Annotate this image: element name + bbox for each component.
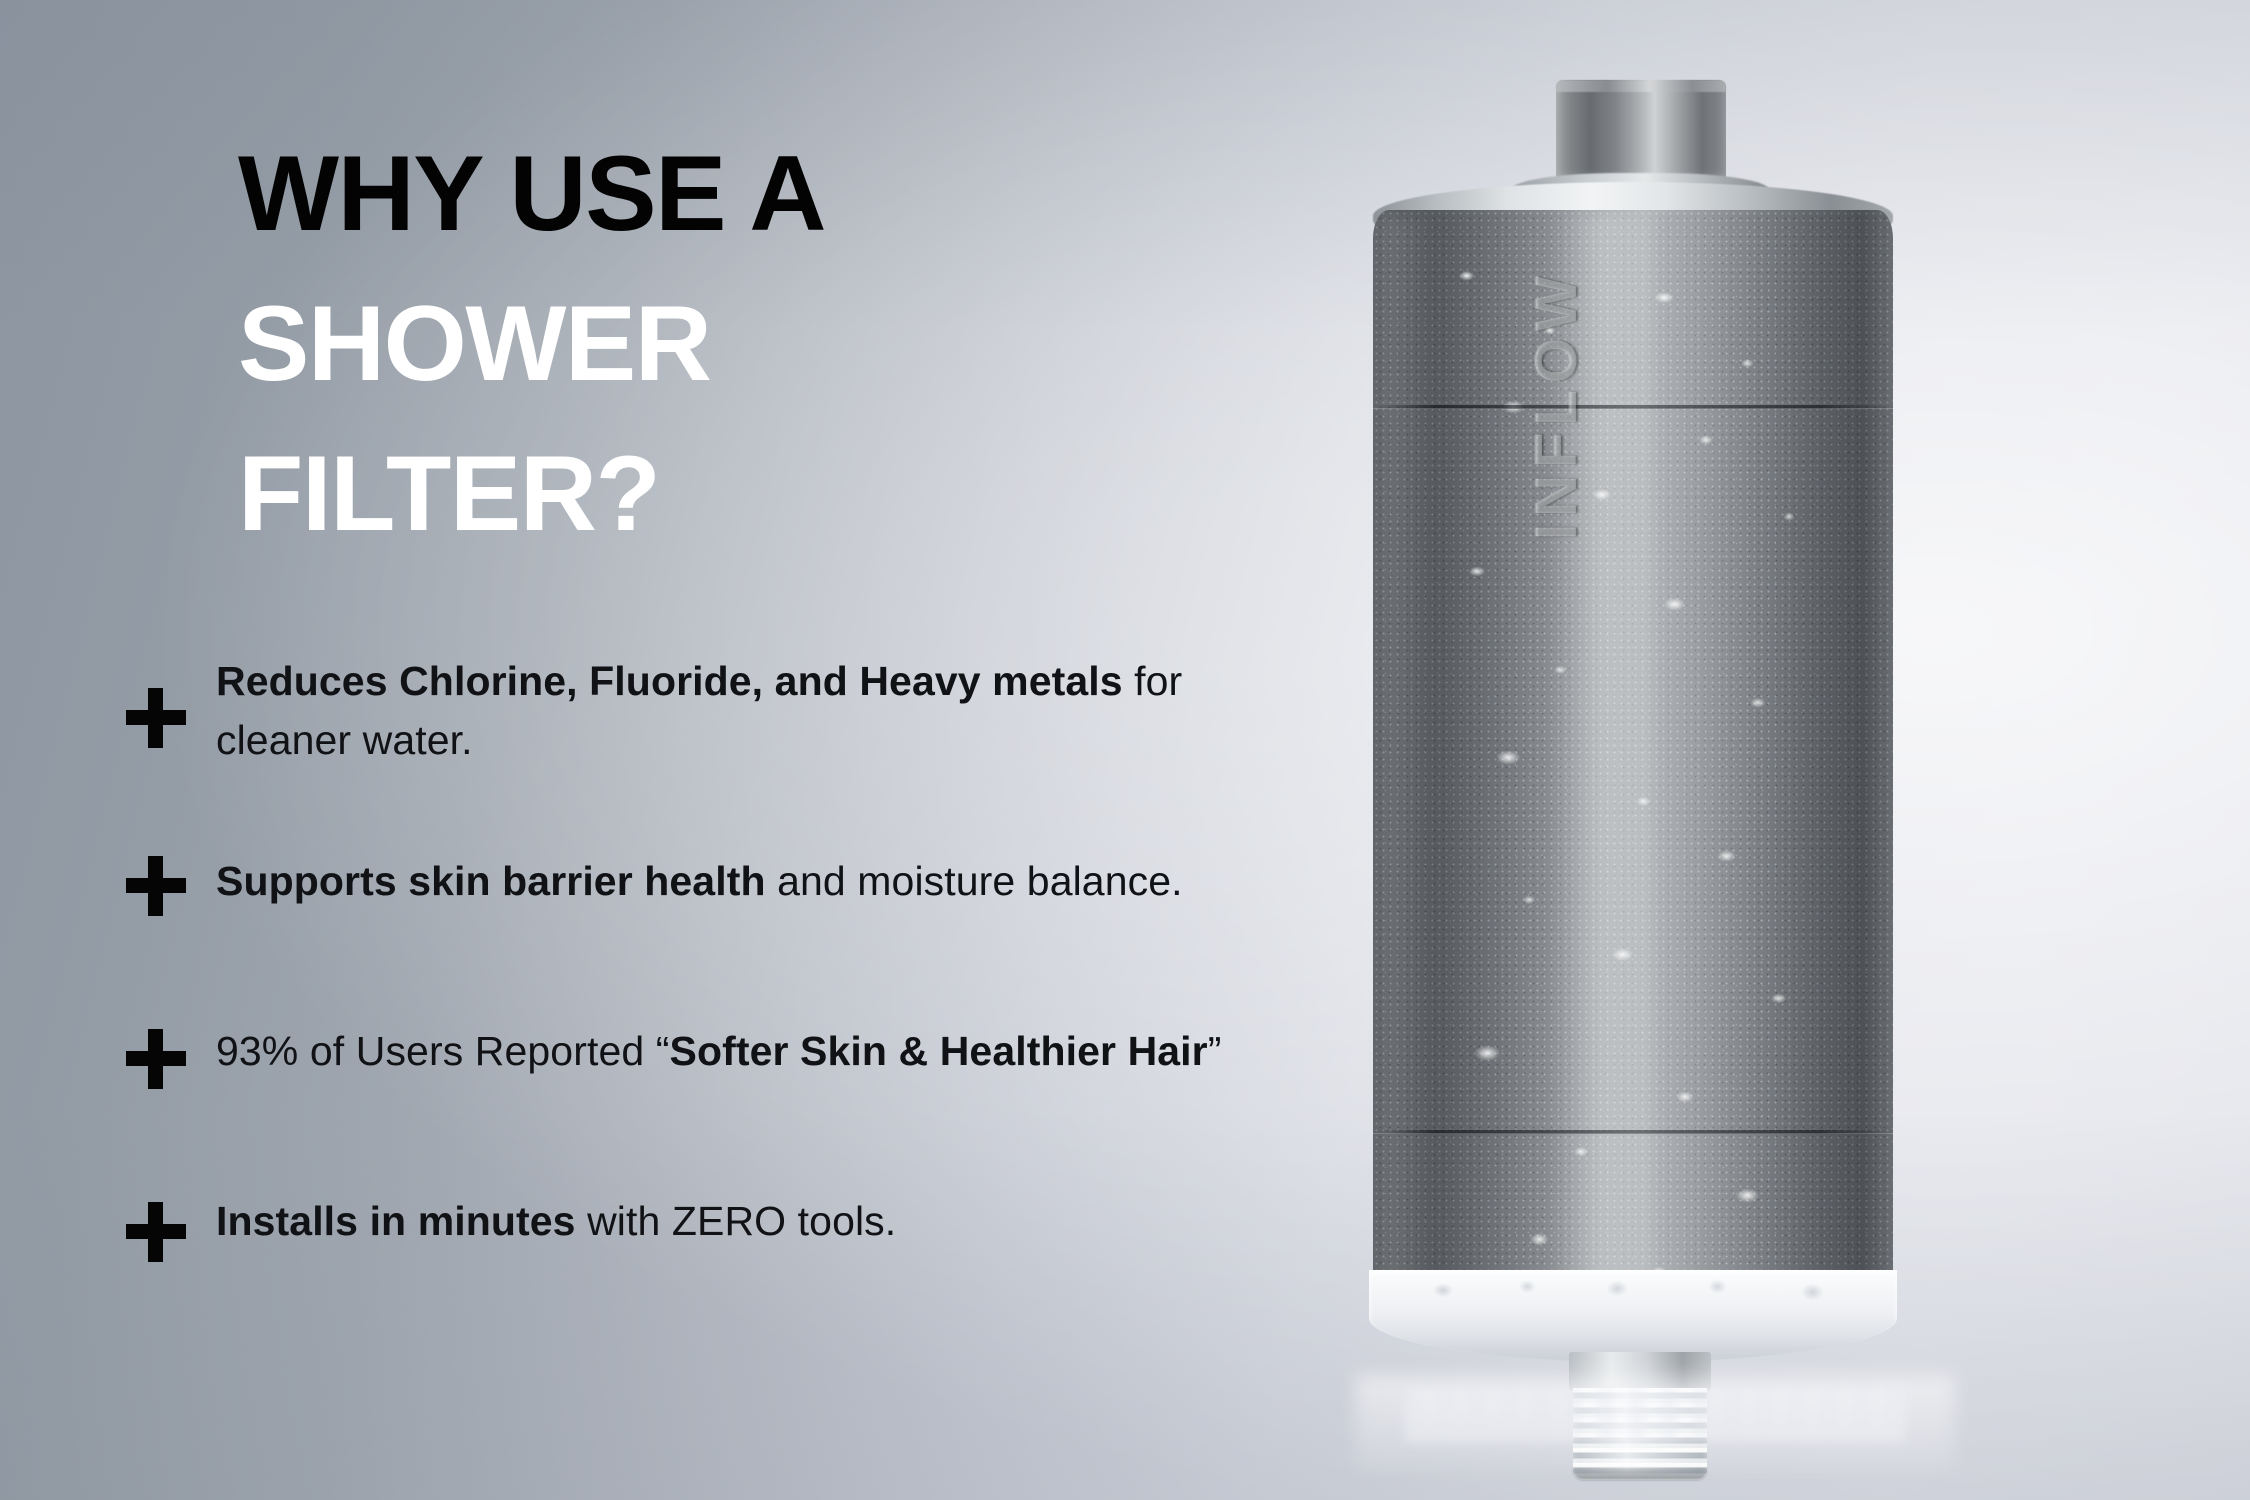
- brand-engraving: INFLOW: [1523, 269, 1590, 540]
- benefit-regular: and moisture balance.: [766, 858, 1183, 904]
- flange-droplets: [1369, 1270, 1897, 1362]
- benefit-bold: Installs in minutes: [216, 1198, 576, 1244]
- list-item: 93% of Users Reported “Softer Skin & Hea…: [118, 988, 1258, 1114]
- benefit-regular: with ZERO tools.: [576, 1198, 897, 1244]
- benefit-text: 93% of Users Reported “Softer Skin & Hea…: [216, 1022, 1222, 1081]
- benefit-regular: 93% of Users Reported “: [216, 1028, 670, 1074]
- text-column: WHY USE A SHOWER FILTER? Reduces Chlorin…: [0, 0, 1260, 1500]
- benefit-quote-close: ”: [1208, 1028, 1222, 1074]
- benefit-bold: Reduces Chlorine, Fluoride, and Heavy me…: [216, 658, 1123, 704]
- seam-ring-lower: [1373, 1130, 1893, 1134]
- headline-line-3: FILTER?: [238, 418, 1218, 568]
- seam-ring-upper: [1373, 405, 1893, 409]
- benefit-text: Installs in minutes with ZERO tools.: [216, 1192, 896, 1251]
- list-item: Installs in minutes with ZERO tools.: [118, 1158, 1258, 1284]
- water-droplets: [1373, 210, 1893, 1305]
- promo-graphic: WHY USE A SHOWER FILTER? Reduces Chlorin…: [0, 0, 2250, 1500]
- product-image: INFLOW: [1315, 70, 1955, 1490]
- benefit-text: Reduces Chlorine, Fluoride, and Heavy me…: [216, 652, 1226, 770]
- inlet-neck: [1556, 80, 1726, 184]
- surface-reflection-texture: [1405, 1388, 1905, 1442]
- plus-icon: [118, 848, 194, 924]
- base-flange: [1369, 1270, 1897, 1362]
- headline-line-1: WHY USE A: [238, 118, 1218, 268]
- list-item: Reduces Chlorine, Fluoride, and Heavy me…: [118, 648, 1258, 774]
- filter-body: INFLOW: [1373, 210, 1893, 1305]
- benefits-list: Reduces Chlorine, Fluoride, and Heavy me…: [118, 648, 1258, 1284]
- plus-icon: [118, 680, 194, 756]
- benefit-text: Supports skin barrier health and moistur…: [216, 852, 1183, 911]
- list-item: Supports skin barrier health and moistur…: [118, 818, 1258, 944]
- headline-line-2: SHOWER: [238, 268, 1218, 418]
- plus-icon: [118, 1194, 194, 1270]
- page-title: WHY USE A SHOWER FILTER?: [238, 118, 1218, 568]
- plus-icon: [118, 1021, 194, 1097]
- benefit-bold: Softer Skin & Healthier Hair: [670, 1028, 1208, 1074]
- benefit-bold: Supports skin barrier health: [216, 858, 766, 904]
